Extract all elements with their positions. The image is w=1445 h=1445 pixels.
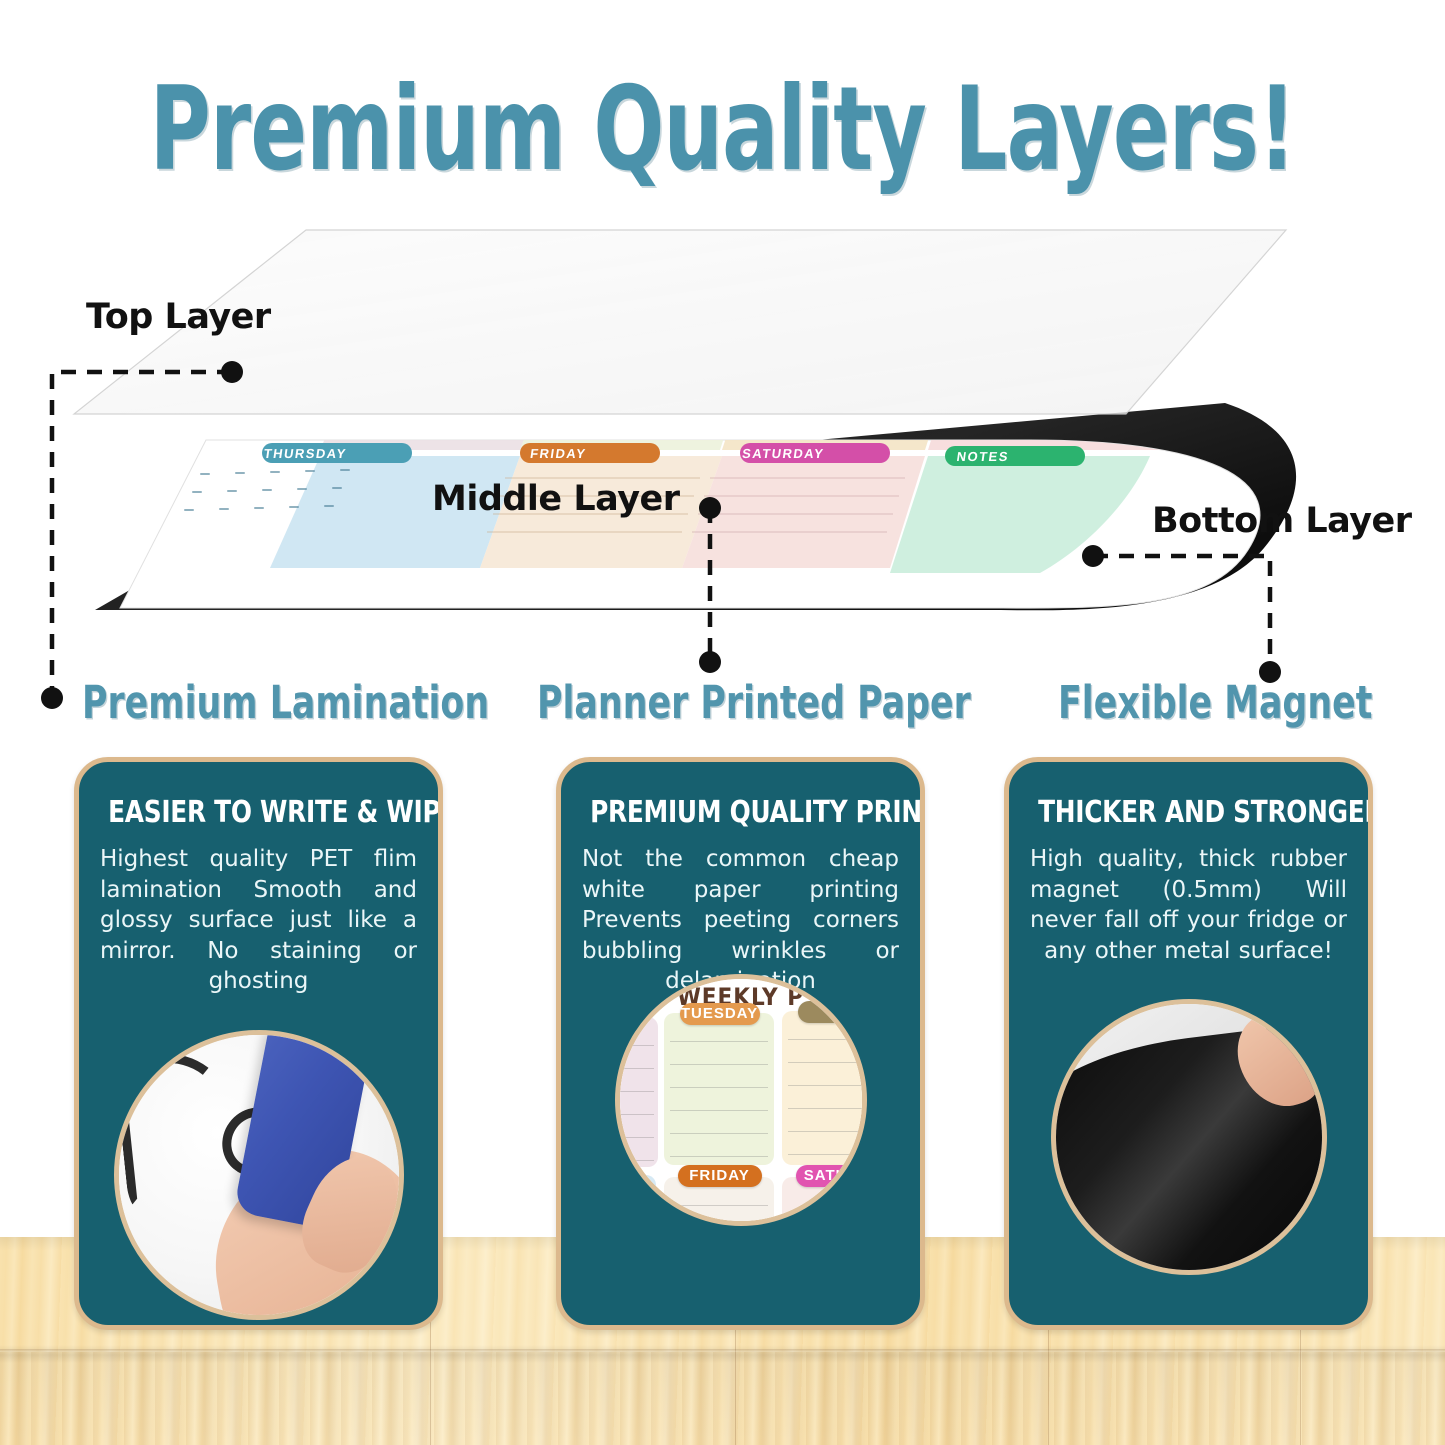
mini-planner-lines [788, 1017, 867, 1161]
table-front-face [0, 1352, 1445, 1445]
feature-card-printing: PREMIUM QUALITY PRINTING Not the common … [556, 757, 925, 1330]
card-body: Highest quality PET flim lamination Smoo… [100, 844, 417, 997]
section-heading-flexible-magnet: Flexible Magnet [1058, 676, 1372, 729]
page-title: Premium Quality Layers! [145, 72, 1301, 188]
mini-planner-pill-saturday: SATURD [796, 1165, 867, 1187]
card-title: PREMIUM QUALITY PRINTING [590, 795, 891, 830]
planner-day-label: FRIDAY [529, 446, 587, 461]
photo-planner-closeup: WEEKLY P TUESDAY FRIDAY SATURD [615, 974, 867, 1226]
card-title: EASIER TO WRITE & WIPE CLEAN [108, 795, 409, 830]
label-top-layer: Top Layer [86, 297, 271, 337]
photo-magnet-sheet [1051, 999, 1327, 1275]
planner-day-label: THURSDAY [263, 446, 348, 461]
planner-notes-label: NOTES [956, 449, 1010, 464]
feature-card-magnet: THICKER AND STRONGER High quality, thick… [1004, 757, 1373, 1330]
section-heading-planner-printed-paper: Planner Printed Paper [537, 676, 971, 729]
mini-planner-lines [615, 1023, 654, 1165]
mini-planner-lines [670, 1019, 768, 1161]
planner-day-label: SATURDAY [741, 446, 825, 461]
layer-exploded-diagram: MONDAY TUESDAY [0, 228, 1445, 648]
label-middle-layer: Middle Layer [432, 479, 680, 519]
feature-card-lamination: EASIER TO WRITE & WIPE CLEAN Highest qua… [74, 757, 443, 1330]
connector-dot [699, 651, 721, 673]
card-body: High quality, thick rubber magnet (0.5mm… [1030, 844, 1347, 966]
mini-planner-lines [670, 1183, 768, 1226]
photo-wipe-clean [114, 1030, 404, 1320]
mini-planner-column-thursday [615, 1175, 656, 1226]
label-bottom-layer: Bottom Layer [1152, 501, 1412, 541]
connector-dot [41, 687, 63, 709]
section-heading-premium-lamination: Premium Lamination [82, 676, 489, 729]
card-title: THICKER AND STRONGER [1038, 795, 1339, 830]
